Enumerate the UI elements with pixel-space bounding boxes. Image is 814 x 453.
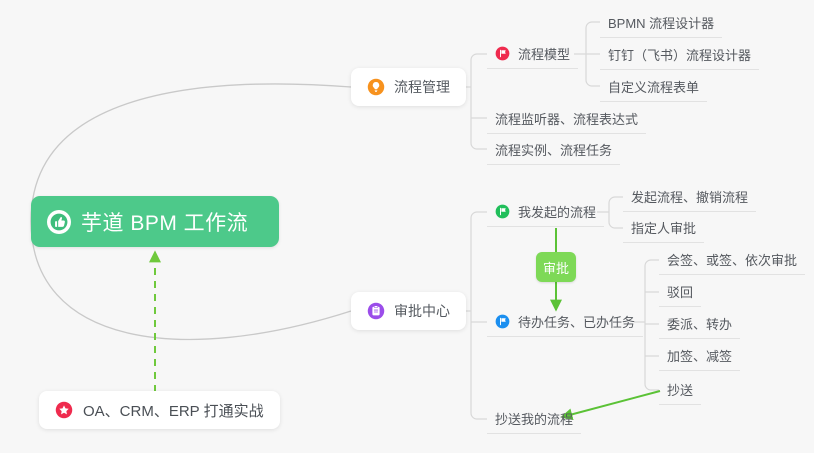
node-my-initiated[interactable]: 我发起的流程: [487, 197, 604, 227]
flag-icon: [495, 46, 510, 61]
card-integration-label: OA、CRM、ERP 打通实战: [83, 400, 264, 421]
flag-icon: [495, 314, 510, 329]
node-my-initiated-label: 我发起的流程: [518, 202, 596, 221]
node-assignee-approval-label: 指定人审批: [631, 218, 696, 237]
callout-approval-chip: 审批: [536, 252, 576, 282]
node-cc-my-process-label: 抄送我的流程: [495, 409, 573, 428]
node-reject[interactable]: 驳回: [659, 277, 701, 307]
node-bpmn-designer[interactable]: BPMN 流程设计器: [600, 8, 722, 38]
node-custom-form-label: 自定义流程表单: [608, 77, 699, 96]
flag-icon: [495, 204, 510, 219]
root-node[interactable]: 芋道 BPM 工作流: [31, 196, 279, 247]
node-cc-my-process[interactable]: 抄送我的流程: [487, 404, 581, 434]
node-process-model-label: 流程模型: [518, 44, 570, 63]
node-delegate-transfer-label: 委派、转办: [667, 314, 732, 333]
node-process-listener-label: 流程监听器、流程表达式: [495, 109, 638, 128]
node-todo-done-tasks[interactable]: 待办任务、已办任务: [487, 307, 643, 337]
node-custom-form[interactable]: 自定义流程表单: [600, 72, 707, 102]
branch-approval-center[interactable]: 审批中心: [351, 292, 466, 330]
node-start-cancel-process[interactable]: 发起流程、撤销流程: [623, 182, 756, 212]
node-reject-label: 驳回: [667, 282, 693, 301]
node-todo-done-tasks-label: 待办任务、已办任务: [518, 312, 635, 331]
node-add-remove-sign-label: 加签、减签: [667, 346, 732, 365]
node-process-model[interactable]: 流程模型: [487, 39, 578, 69]
node-assignee-approval[interactable]: 指定人审批: [623, 213, 704, 243]
clipboard-icon: [367, 302, 385, 320]
node-bpmn-designer-label: BPMN 流程设计器: [608, 13, 714, 32]
root-label: 芋道 BPM 工作流: [81, 207, 248, 237]
node-dingtalk-designer-label: 钉钉（飞书）流程设计器: [608, 45, 751, 64]
branch-process-management[interactable]: 流程管理: [351, 68, 466, 106]
star-icon: [55, 401, 73, 419]
node-countersign-label: 会签、或签、依次审批: [667, 250, 797, 269]
node-countersign[interactable]: 会签、或签、依次审批: [659, 245, 805, 275]
node-add-remove-sign[interactable]: 加签、减签: [659, 341, 740, 371]
branch-process-management-label: 流程管理: [394, 77, 450, 97]
node-cc-label: 抄送: [667, 380, 693, 399]
callout-approval-chip-label: 审批: [543, 258, 569, 277]
node-process-instance[interactable]: 流程实例、流程任务: [487, 135, 620, 165]
branch-approval-center-label: 审批中心: [394, 301, 450, 321]
node-dingtalk-designer[interactable]: 钉钉（飞书）流程设计器: [600, 40, 759, 70]
lightbulb-icon: [367, 78, 385, 96]
thumbs-up-icon: [47, 210, 71, 234]
node-process-listener[interactable]: 流程监听器、流程表达式: [487, 104, 646, 134]
node-start-cancel-process-label: 发起流程、撤销流程: [631, 187, 748, 206]
node-cc[interactable]: 抄送: [659, 375, 701, 405]
node-process-instance-label: 流程实例、流程任务: [495, 140, 612, 159]
mindmap-canvas: 芋道 BPM 工作流 流程管理 流程模型 BPMN 流程设计器 钉钉（飞书: [0, 0, 814, 453]
node-delegate-transfer[interactable]: 委派、转办: [659, 309, 740, 339]
card-integration[interactable]: OA、CRM、ERP 打通实战: [39, 391, 280, 429]
